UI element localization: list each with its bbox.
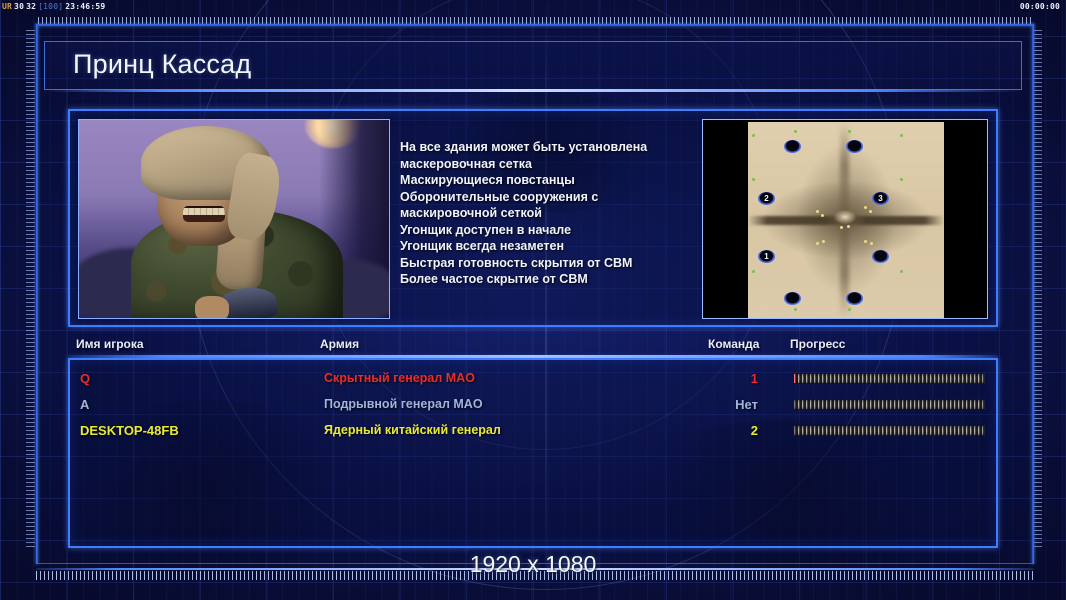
table-row[interactable]: A Подрывной генерал MAO Нет — [70, 392, 996, 416]
map-resource-marker — [822, 240, 825, 243]
hud-label: UR — [2, 2, 12, 11]
map-resource-marker — [847, 225, 850, 228]
column-header-name: Имя игрока — [76, 337, 144, 351]
map-resource-marker — [869, 210, 872, 213]
player-army[interactable]: Скрытный генерал MAO — [324, 371, 475, 385]
title-underline — [45, 89, 1021, 92]
player-army[interactable]: Ядерный китайский генерал — [324, 423, 501, 437]
map-tech-marker — [752, 178, 755, 181]
map-resource-marker — [840, 226, 843, 229]
player-name: A — [80, 397, 89, 412]
general-info-panel: На все здания может быть установлена мас… — [68, 109, 998, 327]
general-portrait — [78, 119, 390, 319]
player-progress-bar — [793, 373, 985, 384]
player-team[interactable]: 1 — [710, 371, 758, 386]
column-header-army: Армия — [320, 337, 359, 351]
hud-top-bar: UR 30 32 [100] 23:46:59 00:00:00 — [0, 0, 1066, 12]
player-name: Q — [80, 371, 90, 386]
table-row[interactable]: Q Скрытный генерал MAO 1 — [70, 366, 996, 390]
map-resource-marker — [816, 210, 819, 213]
hud-clock-left: 23:46:59 — [65, 2, 105, 11]
map-resource-marker — [864, 206, 867, 209]
map-resource-marker — [864, 240, 867, 243]
player-army[interactable]: Подрывной генерал MAO — [324, 397, 483, 411]
player-team[interactable]: 2 — [710, 423, 758, 438]
column-header-team: Команда — [708, 337, 759, 351]
player-progress-bar — [793, 425, 985, 436]
game-lobby-screen: UR 30 32 [100] 23:46:59 00:00:00 Принц К… — [0, 0, 1066, 600]
map-resource-marker — [870, 242, 873, 245]
map-resource-marker — [821, 214, 824, 217]
map-tech-marker — [900, 270, 903, 273]
page-title: Принц Кассад — [73, 49, 251, 80]
player-team[interactable]: Нет — [710, 397, 758, 412]
player-table-panel: Q Скрытный генерал MAO 1 A Подрывной ген… — [68, 358, 998, 548]
map-tech-marker — [752, 134, 755, 137]
title-panel: Принц Кассад — [44, 41, 1022, 90]
map-tech-marker — [794, 130, 797, 133]
map-resource-marker — [816, 242, 819, 245]
hud-value-1: 30 — [14, 2, 24, 11]
map-tech-marker — [752, 270, 755, 273]
resolution-label: 1920 x 1080 — [0, 551, 1066, 578]
map-start-position — [784, 140, 801, 153]
portrait-mouth — [183, 206, 225, 222]
hud-value-2: 32 — [26, 2, 36, 11]
map-tech-marker — [900, 134, 903, 137]
portrait-hand — [195, 296, 229, 319]
hud-clock-right: 00:00:00 — [1020, 2, 1060, 11]
map-tech-marker — [794, 308, 797, 311]
general-description: На все здания может быть установлена мас… — [400, 139, 700, 288]
map-terrain: 2 3 1 — [748, 122, 944, 318]
map-start-position — [784, 292, 801, 305]
ruler-left — [26, 30, 35, 550]
player-progress-bar — [793, 399, 985, 410]
map-start-position-3: 3 — [872, 192, 889, 205]
column-header-progress: Прогресс — [790, 337, 845, 351]
player-table-header: Имя игрока Армия Команда Прогресс — [68, 337, 998, 357]
hud-value-3: [100] — [38, 2, 63, 11]
map-tech-marker — [900, 178, 903, 181]
ruler-right — [1033, 30, 1042, 550]
player-name: DESKTOP-48FB — [80, 423, 179, 438]
table-row[interactable]: DESKTOP-48FB Ядерный китайский генерал 2 — [70, 418, 996, 442]
map-preview: 2 3 1 — [702, 119, 988, 319]
map-start-position — [846, 140, 863, 153]
map-tech-marker — [848, 308, 851, 311]
map-start-position-1: 1 — [758, 250, 775, 263]
map-tech-marker — [848, 130, 851, 133]
map-start-position — [846, 292, 863, 305]
map-start-position-2: 2 — [758, 192, 775, 205]
map-start-position — [872, 250, 889, 263]
hud-left-group: UR 30 32 [100] 23:46:59 — [0, 2, 105, 11]
